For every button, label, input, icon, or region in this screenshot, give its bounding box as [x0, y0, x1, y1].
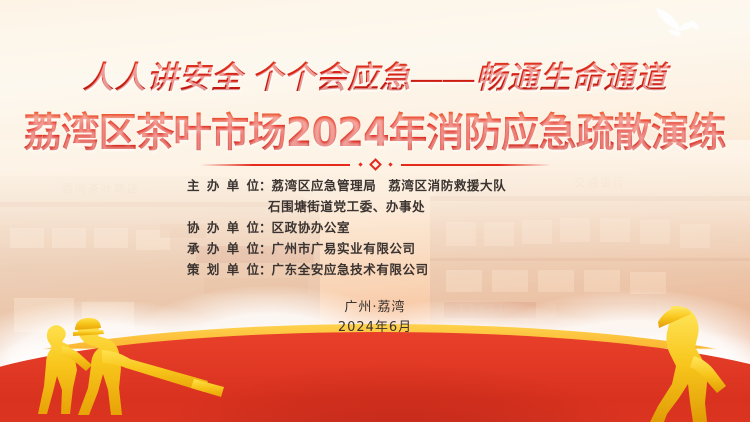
organizer-value-a: 广州市广易实业有限公司 [272, 238, 563, 259]
organizer-label: 承办单位 [187, 238, 259, 259]
organizer-value: 荔湾区应急管理局荔湾区消防救援大队 [272, 175, 563, 196]
date-text: 2024年6月 [0, 318, 750, 338]
divider-line-right [401, 164, 551, 166]
organizer-list: 主办单位 ： 荔湾区应急管理局荔湾区消防救援大队 石围塘街道党工委、办事处 协办… [0, 175, 750, 280]
divider [0, 160, 750, 169]
slogan-text: 人人讲安全 个个会应急——畅通生命通道 [0, 52, 750, 97]
organizer-value-a: 区政协办公室 [272, 217, 563, 238]
organizer-value-a: 荔湾区应急管理局 [272, 178, 377, 193]
organizer-row: 主办单位 ： 荔湾区应急管理局荔湾区消防救援大队 [187, 175, 563, 196]
page-title: 荔湾区茶叶市场2024年消防应急疏散演练 [24, 100, 726, 158]
organizer-row: 承办单位 ： 广州市广易实业有限公司 [187, 238, 563, 259]
divider-line-left [200, 164, 350, 166]
organizer-value-b: 荔湾区消防救援大队 [388, 178, 506, 193]
main-title-wrap: 荔湾区茶叶市场2024年消防应急疏散演练 [0, 100, 750, 158]
organizer-label: 协办单位 [187, 217, 259, 238]
diamond-ornament-icon [369, 158, 382, 171]
organizer-label [187, 196, 259, 217]
organizer-value-a: 石围塘街道党工委、办事处 [268, 196, 563, 217]
white-dove-icon [648, 6, 700, 49]
organizer-row: 协办单位 ： 区政协办公室 [187, 217, 563, 238]
poster-canvas: 荔湾茶叶商店 陈升号普洱古茶 交通银行 勐海远达茶厂 [0, 0, 750, 422]
organizer-label: 主办单位 [187, 175, 259, 196]
place-date-block: 广州·荔湾 2024年6月 [0, 298, 750, 338]
organizer-colon [259, 196, 268, 217]
location-text: 广州·荔湾 [0, 298, 750, 318]
organizer-colon: ： [259, 259, 272, 280]
organizer-colon: ： [259, 175, 272, 196]
divider-dot [358, 162, 362, 166]
organizer-row: 石围塘街道党工委、办事处 [187, 196, 563, 217]
organizer-value-a: 广东全安应急技术有限公司 [272, 259, 563, 280]
organizer-row: 策划单位 ： 广东全安应急技术有限公司 [187, 259, 563, 280]
organizer-colon: ： [259, 217, 272, 238]
organizer-colon: ： [259, 238, 272, 259]
divider-dot [388, 162, 392, 166]
organizer-label: 策划单位 [187, 259, 259, 280]
